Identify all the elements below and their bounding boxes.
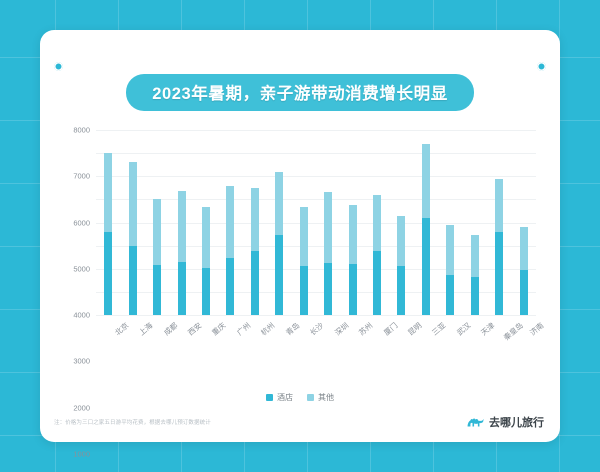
bar-column[interactable]	[463, 130, 487, 315]
bar-column[interactable]	[120, 130, 144, 315]
bar-segment-other[interactable]	[397, 216, 405, 267]
chart-footnote: 注：价格为三口之家五日游平均花费，根据去哪儿预订数据统计	[54, 418, 211, 426]
chart-title-container: 2023年暑期，亲子游带动消费增长明显	[40, 74, 560, 111]
stacked-bar[interactable]	[349, 205, 357, 315]
chart-plot-area: 800070006000500040003000200010000	[96, 130, 536, 315]
bar-column[interactable]	[218, 130, 242, 315]
bar-segment-other[interactable]	[520, 227, 528, 270]
bar-segment-other[interactable]	[324, 192, 332, 263]
bar-segment-hotel[interactable]	[178, 262, 186, 315]
chart-card: 2023年暑期，亲子游带动消费增长明显 80007000600050004000…	[40, 30, 560, 442]
chart-legend: 酒店其他	[40, 392, 560, 403]
y-axis-tick-label: 3000	[73, 357, 90, 366]
bar-segment-other[interactable]	[178, 191, 186, 262]
y-axis-tick-label: 2000	[73, 403, 90, 412]
bar-column[interactable]	[438, 130, 462, 315]
bar-segment-hotel[interactable]	[349, 264, 357, 315]
bar-column[interactable]	[267, 130, 291, 315]
bar-column[interactable]	[487, 130, 511, 315]
y-axis-tick-label: 6000	[73, 218, 90, 227]
bar-segment-hotel[interactable]	[373, 251, 381, 315]
chart-x-axis-labels: 北京上海成都西安重庆广州杭州青岛长沙深圳苏州厦门昆明三亚武汉天津秦皇岛济南	[96, 318, 536, 360]
legend-item[interactable]: 其他	[307, 392, 334, 403]
bar-segment-other[interactable]	[349, 205, 357, 264]
legend-label: 其他	[318, 392, 334, 403]
x-axis-label-cell: 北京	[96, 318, 120, 360]
y-axis-tick-label: 1000	[73, 449, 90, 458]
bar-segment-hotel[interactable]	[495, 232, 503, 315]
bar-segment-hotel[interactable]	[471, 277, 479, 315]
legend-label: 酒店	[277, 392, 293, 403]
bar-column[interactable]	[389, 130, 413, 315]
bar-segment-hotel[interactable]	[520, 270, 528, 315]
bar-column[interactable]	[96, 130, 120, 315]
bar-segment-hotel[interactable]	[446, 275, 454, 315]
camel-icon	[466, 415, 485, 430]
y-axis-tick-label: 7000	[73, 172, 90, 181]
stacked-bar[interactable]	[422, 144, 430, 315]
bar-segment-other[interactable]	[129, 162, 137, 245]
bar-column[interactable]	[145, 130, 169, 315]
bar-segment-other[interactable]	[251, 188, 259, 252]
bar-segment-hotel[interactable]	[202, 268, 210, 315]
stacked-bar[interactable]	[520, 227, 528, 315]
bar-column[interactable]	[292, 130, 316, 315]
bar-column[interactable]	[414, 130, 438, 315]
card-punch-hole-right	[537, 62, 546, 71]
bar-segment-other[interactable]	[373, 195, 381, 252]
bar-segment-other[interactable]	[202, 207, 210, 267]
stacked-bar[interactable]	[178, 191, 186, 315]
bar-column[interactable]	[169, 130, 193, 315]
bar-column[interactable]	[316, 130, 340, 315]
stacked-bar[interactable]	[324, 192, 332, 315]
legend-swatch	[266, 394, 273, 401]
bar-segment-hotel[interactable]	[104, 232, 112, 315]
bar-segment-hotel[interactable]	[397, 266, 405, 315]
bar-column[interactable]	[365, 130, 389, 315]
bar-segment-other[interactable]	[446, 225, 454, 275]
bar-segment-hotel[interactable]	[300, 266, 308, 315]
bar-column[interactable]	[511, 130, 535, 315]
bar-segment-other[interactable]	[104, 153, 112, 232]
bar-column[interactable]	[194, 130, 218, 315]
bar-segment-hotel[interactable]	[251, 251, 259, 315]
bar-segment-hotel[interactable]	[226, 258, 234, 315]
stacked-bar[interactable]	[202, 207, 210, 315]
bar-segment-other[interactable]	[226, 186, 234, 259]
bar-segment-hotel[interactable]	[324, 263, 332, 315]
card-punch-hole-left	[54, 62, 63, 71]
stacked-bar[interactable]	[153, 199, 161, 315]
y-axis-tick-label: 5000	[73, 264, 90, 273]
bar-column[interactable]	[340, 130, 364, 315]
bar-segment-other[interactable]	[153, 199, 161, 265]
legend-item[interactable]: 酒店	[266, 392, 293, 403]
brand-logo: 去哪儿旅行	[466, 414, 544, 430]
bar-segment-other[interactable]	[300, 207, 308, 266]
y-axis-tick-label: 4000	[73, 311, 90, 320]
stacked-bar[interactable]	[471, 235, 479, 315]
stacked-bar[interactable]	[104, 153, 112, 315]
stacked-bar[interactable]	[251, 188, 259, 315]
page-title: 2023年暑期，亲子游带动消费增长明显	[126, 74, 474, 111]
stacked-bar[interactable]	[397, 216, 405, 315]
stacked-bar[interactable]	[446, 225, 454, 315]
bar-segment-hotel[interactable]	[153, 265, 161, 315]
stacked-bar[interactable]	[129, 162, 137, 315]
chart-bars	[96, 130, 536, 315]
gridline: 0	[96, 315, 536, 316]
stacked-bar[interactable]	[300, 207, 308, 315]
stacked-bar[interactable]	[373, 195, 381, 315]
bar-segment-other[interactable]	[471, 235, 479, 277]
stacked-bar[interactable]	[226, 186, 234, 316]
bar-segment-hotel[interactable]	[129, 246, 137, 315]
bar-segment-hotel[interactable]	[275, 235, 283, 315]
bar-segment-other[interactable]	[495, 179, 503, 232]
bar-segment-hotel[interactable]	[422, 218, 430, 315]
bar-column[interactable]	[243, 130, 267, 315]
stacked-bar[interactable]	[495, 179, 503, 315]
stacked-bar[interactable]	[275, 172, 283, 315]
brand-name: 去哪儿旅行	[489, 414, 544, 430]
legend-swatch	[307, 394, 314, 401]
y-axis-tick-label: 8000	[73, 126, 90, 135]
bar-segment-other[interactable]	[275, 172, 283, 236]
bar-segment-other[interactable]	[422, 144, 430, 218]
